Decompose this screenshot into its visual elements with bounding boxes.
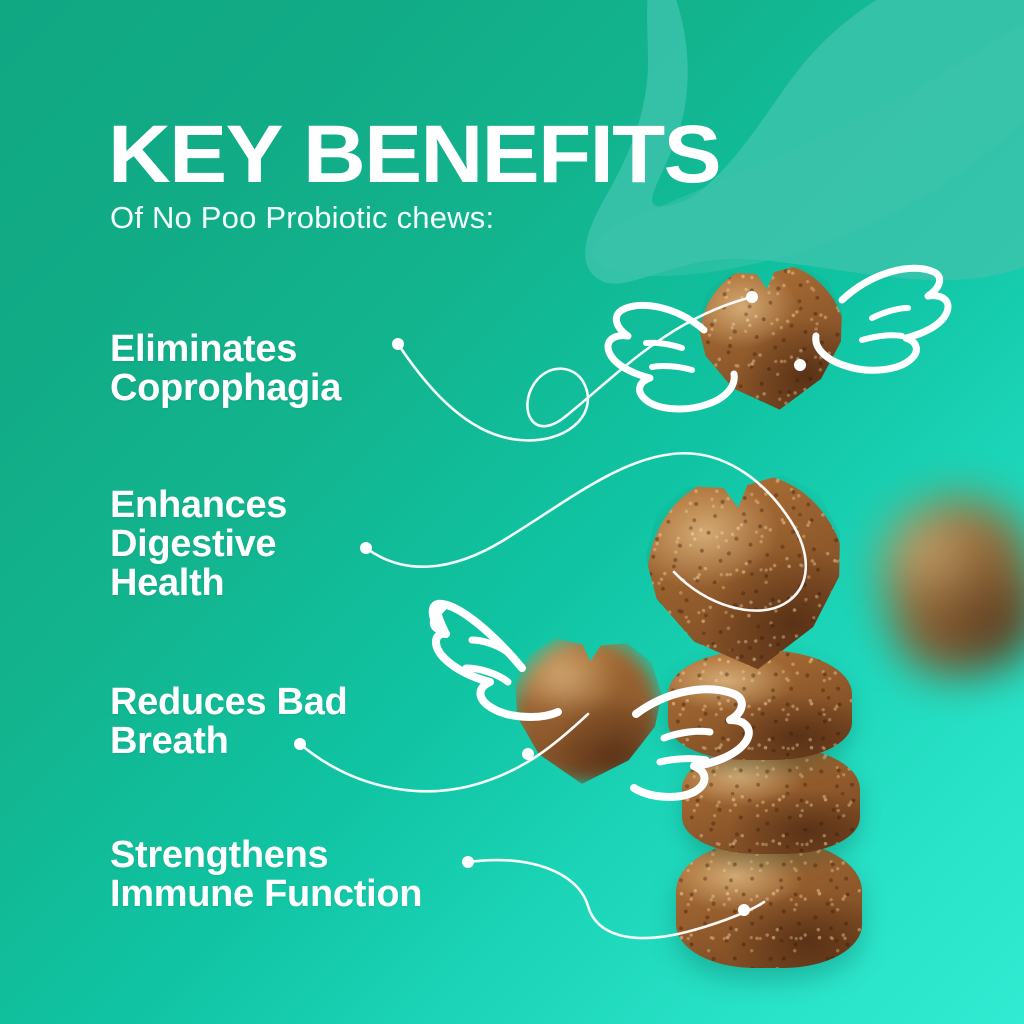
connector-dot-eliminates-start [392, 338, 404, 350]
benefit-item-eliminates-coprophagia: Eliminates Coprophagia [110, 330, 341, 408]
benefit-item-strengthens-immune-function: Strengthens Immune Function [110, 836, 422, 914]
wing-middle-right [634, 689, 749, 797]
chew-stack-top [635, 463, 857, 682]
chew-flying-middle [507, 631, 667, 789]
chew-stack-third [682, 746, 860, 854]
connector-dot-enhances-end [794, 359, 806, 371]
connector-eliminates [398, 298, 748, 440]
page-subtitle: Of No Poo Probiotic chews: [110, 200, 494, 236]
chew-background-right [869, 484, 1024, 687]
connector-dot-eliminates-end [746, 291, 758, 303]
benefit-item-reduces-bad-breath: Reduces Bad Breath [110, 683, 347, 761]
chew-stack-second [668, 650, 852, 760]
chew-flying-top [691, 257, 853, 418]
key-benefits-poster: KEY BENEFITS Of No Poo Probiotic chews: … [0, 0, 1024, 1024]
page-title: KEY BENEFITS [108, 116, 720, 194]
connector-dot-strengthens-start [462, 856, 474, 868]
chew-stack-bottom [676, 840, 862, 968]
connector-dot-reduces-end [522, 748, 534, 760]
benefit-item-enhances-digestive-health: Enhances Digestive Health [110, 486, 287, 603]
wing-top-right [816, 268, 948, 370]
wing-middle-left [433, 604, 558, 717]
connector-dot-enhances-start [360, 542, 372, 554]
wing-top-left [608, 305, 734, 409]
connector-strengthens [468, 860, 764, 938]
connector-enhances [366, 453, 806, 610]
connector-dot-strengthens-end [738, 904, 750, 916]
